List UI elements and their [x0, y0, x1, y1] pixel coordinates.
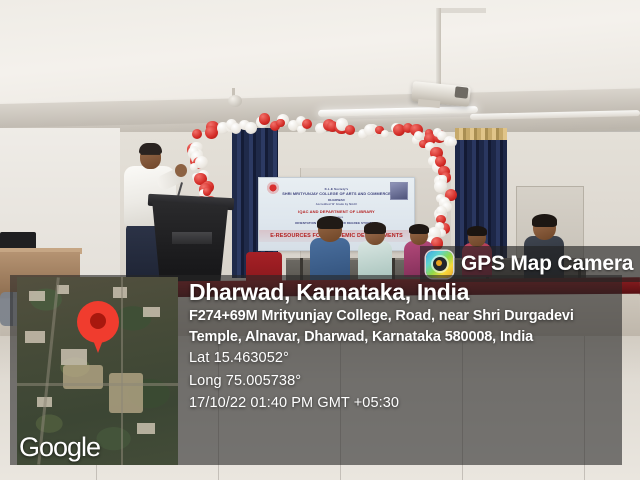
- map-pin-dot: [90, 313, 106, 329]
- map-thumbnail[interactable]: Google: [17, 277, 178, 465]
- map-building: [143, 307, 160, 317]
- panel-member-body: [358, 241, 392, 279]
- map-road: [17, 383, 178, 386]
- map-building: [61, 349, 87, 365]
- ceiling-fixture: [228, 95, 242, 107]
- map-building: [25, 331, 45, 343]
- panel-member-hair: [532, 214, 557, 227]
- map-road: [121, 277, 123, 465]
- panel-member-hair: [364, 222, 386, 234]
- banner-line-3: DHARWAD: [259, 198, 414, 202]
- map-building: [137, 423, 155, 434]
- google-watermark: Google: [19, 432, 100, 463]
- projector-mount-arm: [436, 8, 486, 13]
- projector-lens: [454, 86, 468, 98]
- banner-line-5: IQAC AND DEPARTMENT OF LIBRARY: [259, 209, 414, 214]
- gps-camera-icon: [426, 251, 453, 278]
- podium-nameplate: [172, 232, 212, 244]
- app-name-label: GPS Map Camera: [461, 252, 633, 276]
- screenshot-root: K.L.E Society's SHRI MRITYUNJAY COLLEGE …: [0, 0, 640, 480]
- map-open-field: [109, 373, 143, 413]
- longitude-label: Long 75.005738°: [189, 370, 619, 392]
- map-pin-icon: [77, 301, 119, 343]
- panel-member-hair: [467, 226, 487, 236]
- map-building: [113, 287, 127, 298]
- gps-info-text: Dharwad, Karnataka, India F274+69M Mrity…: [189, 279, 619, 415]
- map-building: [29, 291, 45, 301]
- panel-member-hair: [409, 224, 429, 234]
- speaker-glasses: [141, 154, 160, 159]
- latitude-label: Lat 15.463052°: [189, 347, 619, 369]
- speaker-hand: [175, 164, 187, 177]
- timestamp-label: 17/10/22 01:40 PM GMT +05:30: [189, 392, 619, 414]
- panel-member-hair: [317, 216, 343, 229]
- location-title: Dharwad, Karnataka, India: [189, 279, 619, 306]
- address-line-1: F274+69M Mrityunjay College, Road, near …: [189, 306, 619, 327]
- projector-mount-rod: [436, 8, 441, 86]
- speaker-hair: [139, 143, 162, 154]
- banner-line-2: SHRI MRITYUNJAY COLLEGE OF ARTS AND COMM…: [259, 192, 414, 196]
- banner-line-1: K.L.E Society's: [259, 187, 414, 191]
- address-line-2: Temple, Alnavar, Dharwad, Karnataka 5800…: [189, 327, 619, 348]
- banner-line-4: Accredited 'B' Grade by NAAC: [259, 203, 414, 206]
